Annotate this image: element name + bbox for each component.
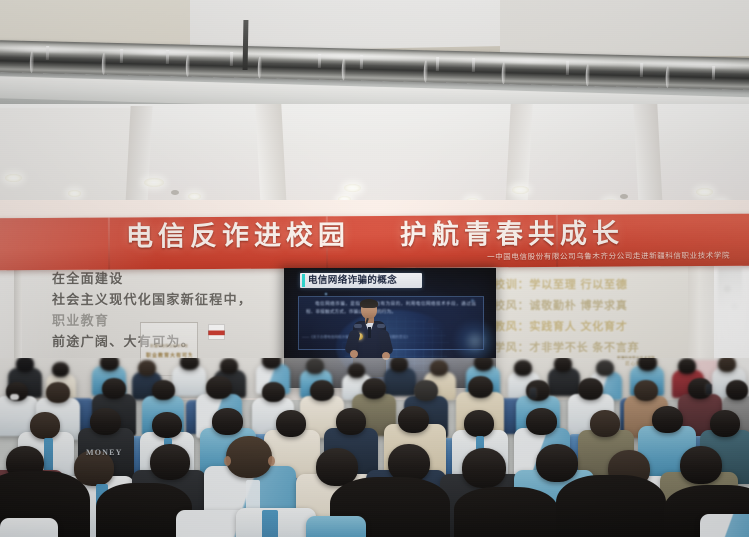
smoke-detector-icon [620,194,628,199]
audience-head [30,412,60,439]
wall-slogan-left-line-2: 社会主义现代化国家新征程中， [52,289,282,310]
duct-hanger [166,50,169,64]
foreground-silhouette [454,487,558,537]
wall-motto-line-4: 学风：才非学不长 条不言弃 [494,338,694,359]
duct-hanger [712,66,715,80]
audience-head [464,410,494,437]
ceiling-panel-left [0,108,130,204]
duct-hanger [230,52,233,66]
audience-head [710,410,740,437]
audience-head [226,436,272,478]
presenter-tie [368,327,371,338]
duct-ring [102,53,107,75]
uniform-stripe [262,510,278,537]
smartphone [706,384,712,394]
presenter-shoulder-board [377,324,385,328]
audience-head [262,382,285,402]
audience-head [680,446,722,484]
audience-head [718,358,736,372]
audience-head [150,444,190,480]
audience-head [90,408,121,435]
audience-head [678,358,696,374]
audience-head [306,358,324,374]
duct-ring [30,51,35,73]
ceiling-drop-rib [255,104,286,208]
audience-head [526,408,557,435]
audience-head [554,358,572,372]
audience-head [102,378,126,399]
duct-hanger [640,63,643,77]
duct-hanger [436,57,439,71]
audience-head [398,406,429,433]
audience-ear [224,456,231,466]
audience-head [336,408,366,435]
duct-ring [665,66,670,88]
duct-ring [186,55,191,77]
duct-hanger [318,54,321,68]
audience-head [638,358,657,371]
slide-body-paragraph: 电信网络诈骗，是指以非法占有为目的，利用电信网络技术手段，通过远程、非接触式方式… [306,300,476,316]
audience-head [726,380,748,400]
ceiling-soffit-right [500,0,749,56]
audience-body [548,368,580,396]
smoke-detector-icon [171,190,179,195]
presenter-hand-left [350,350,358,358]
audience-head [390,358,408,372]
foreground-silhouette [556,475,666,537]
audience-head [46,382,70,403]
audience-head [536,444,578,482]
audience-head [652,406,683,433]
audience-head [152,412,182,438]
audience-head [276,410,306,437]
lecture-photo: 在全面建设 社会主义现代化国家新征程中， 职业教育 前途广阔、大有可为。 新疆科… [0,0,749,537]
audience-head [578,378,603,400]
audience-body [172,366,206,396]
ceiling-downlight [68,190,81,197]
duct-ring [501,62,506,84]
face-mask [10,394,19,400]
ceiling-downlight [144,178,164,187]
duct-hanger [472,58,475,72]
duct-ring [585,64,590,86]
wall-motto-line-1: 校训：学以至理 行以至德 [494,275,694,296]
wall-motto-line-3: 教风：实践育人 文化育才 [494,317,694,338]
audience-head [138,360,156,376]
audience-head [468,376,493,398]
wall-motto-right: 校训：学以至理 行以至德 校风：诚敬勤朴 博学求真 教风：实践育人 文化育才 学… [494,275,694,359]
duct-hanger [46,46,49,60]
smartphone [530,388,536,398]
audience-ear [268,456,275,466]
ceiling-downlight [188,193,201,200]
presenter-shoulder-board [354,324,362,328]
ceiling-downlight [5,174,22,182]
duct-bracket [243,20,249,70]
wall-poster-left-line-1: 新疆科信职业技术学院 [146,344,192,349]
audience-head [212,408,243,435]
audience-head [52,362,69,377]
ceiling-downlight [512,186,529,194]
ceiling-soffit-center [190,0,510,52]
audience-body [700,514,749,537]
audience-head [462,448,506,488]
duct-ring [258,56,263,78]
audience-body [0,518,58,537]
ceiling-downlight [344,184,361,192]
audience-head [310,380,334,401]
banner-title: 电信反诈进校园 护航青春共成长 [0,216,749,255]
duct-hanger [360,55,363,69]
duct-ring [342,58,347,80]
audience-body [384,368,416,396]
audience-head [220,358,238,374]
audience-head [634,380,658,401]
duct-hanger [120,49,123,63]
jacket-logo-text: MONEY [86,448,123,457]
slide-title-accent-bar [302,274,305,287]
wall-emblem-left [208,324,225,340]
duct-hanger [566,61,569,75]
slide-title-text: 电信网络诈骗的概念 [308,275,397,287]
wall-slogan-left-line-1: 在全面建设 [52,268,282,289]
audience-head [348,363,365,378]
wall-motto-line-2: 校风：诚敬勤朴 博学求真 [494,296,694,317]
audience-head [474,358,493,371]
audience-head [152,380,175,400]
audience-head [514,360,532,376]
audience-head [206,376,232,399]
event-banner: 电信反诈进校园 护航青春共成长 一中国电信股份有限公司乌鲁木齐分公司走进新疆科信… [0,214,749,271]
audience-head [596,360,614,376]
slide-body-text: 电信网络诈骗，是指以非法占有为目的，利用电信网络技术手段，通过远程、非接触式方式… [306,300,476,316]
audience-head [180,358,199,370]
audience-head [100,358,119,371]
audience-head [362,378,386,399]
ceiling-downlight [696,188,713,196]
audience-head [16,358,34,372]
audience-body [306,516,366,537]
audience-head [414,380,438,401]
presenter-hair [360,299,378,308]
duct-ring [424,60,429,82]
audience-head [430,360,448,376]
audience-head [590,410,620,437]
